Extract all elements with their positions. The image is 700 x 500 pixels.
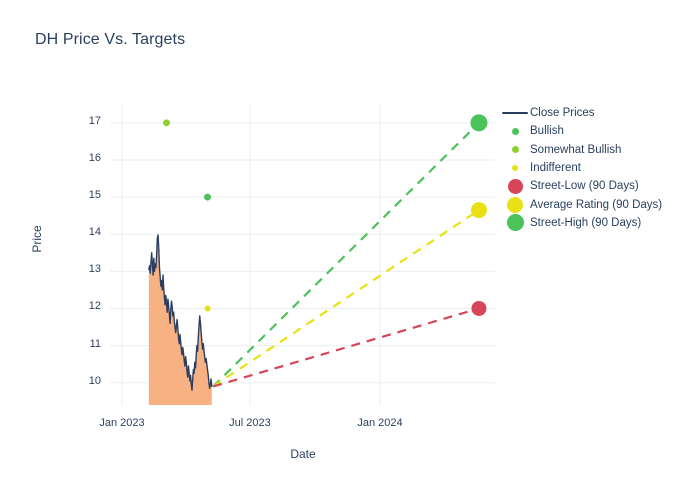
y-axis-label: Price	[30, 199, 44, 279]
legend-dot-icon	[500, 214, 530, 231]
rating-points-layer	[163, 119, 211, 311]
legend-dot-icon	[500, 146, 530, 153]
legend-item-label: Close Prices	[530, 107, 595, 119]
y-tick-label: 12	[61, 300, 101, 312]
legend-item-label: Indifferent	[530, 162, 581, 174]
legend-item[interactable]: Street-High (90 Days)	[500, 214, 700, 232]
x-tick-label: Jan 2024	[335, 417, 425, 429]
legend-item[interactable]: Street-Low (90 Days)	[500, 177, 700, 195]
y-tick-label: 11	[61, 338, 101, 350]
chart-legend: Close PricesBullishSomewhat BullishIndif…	[500, 104, 700, 232]
y-tick-label: 16	[61, 152, 101, 164]
legend-item-label: Somewhat Bullish	[530, 144, 621, 156]
legend-dot-icon	[500, 197, 530, 213]
x-tick-label: Jul 2023	[205, 417, 295, 429]
legend-line-icon	[500, 112, 530, 115]
legend-item-label: Street-Low (90 Days)	[530, 180, 639, 192]
y-tick-label: 17	[61, 115, 101, 127]
series-layer	[149, 235, 212, 405]
target-lines-layer	[213, 123, 479, 387]
legend-dot-icon	[500, 179, 530, 194]
legend-item-label: Bullish	[530, 125, 564, 137]
legend-item-label: Average Rating (90 Days)	[530, 199, 662, 211]
legend-item-label: Street-High (90 Days)	[530, 217, 641, 229]
legend-item[interactable]: Close Prices	[500, 104, 700, 122]
x-axis-label: Date	[213, 447, 393, 461]
chart-container: DH Price Vs. Targets 1011121314151617 Ja…	[0, 0, 700, 500]
legend-dot-icon	[500, 128, 530, 135]
legend-item[interactable]: Somewhat Bullish	[500, 141, 700, 159]
y-tick-label: 15	[61, 189, 101, 201]
legend-item[interactable]: Indifferent	[500, 159, 700, 177]
y-tick-label: 10	[61, 375, 101, 387]
y-tick-label: 14	[61, 226, 101, 238]
legend-item[interactable]: Bullish	[500, 122, 700, 140]
legend-dot-icon	[500, 165, 530, 171]
x-tick-label: Jan 2023	[77, 417, 167, 429]
y-tick-label: 13	[61, 263, 101, 275]
target-markers-layer	[470, 114, 487, 316]
legend-item[interactable]: Average Rating (90 Days)	[500, 195, 700, 213]
